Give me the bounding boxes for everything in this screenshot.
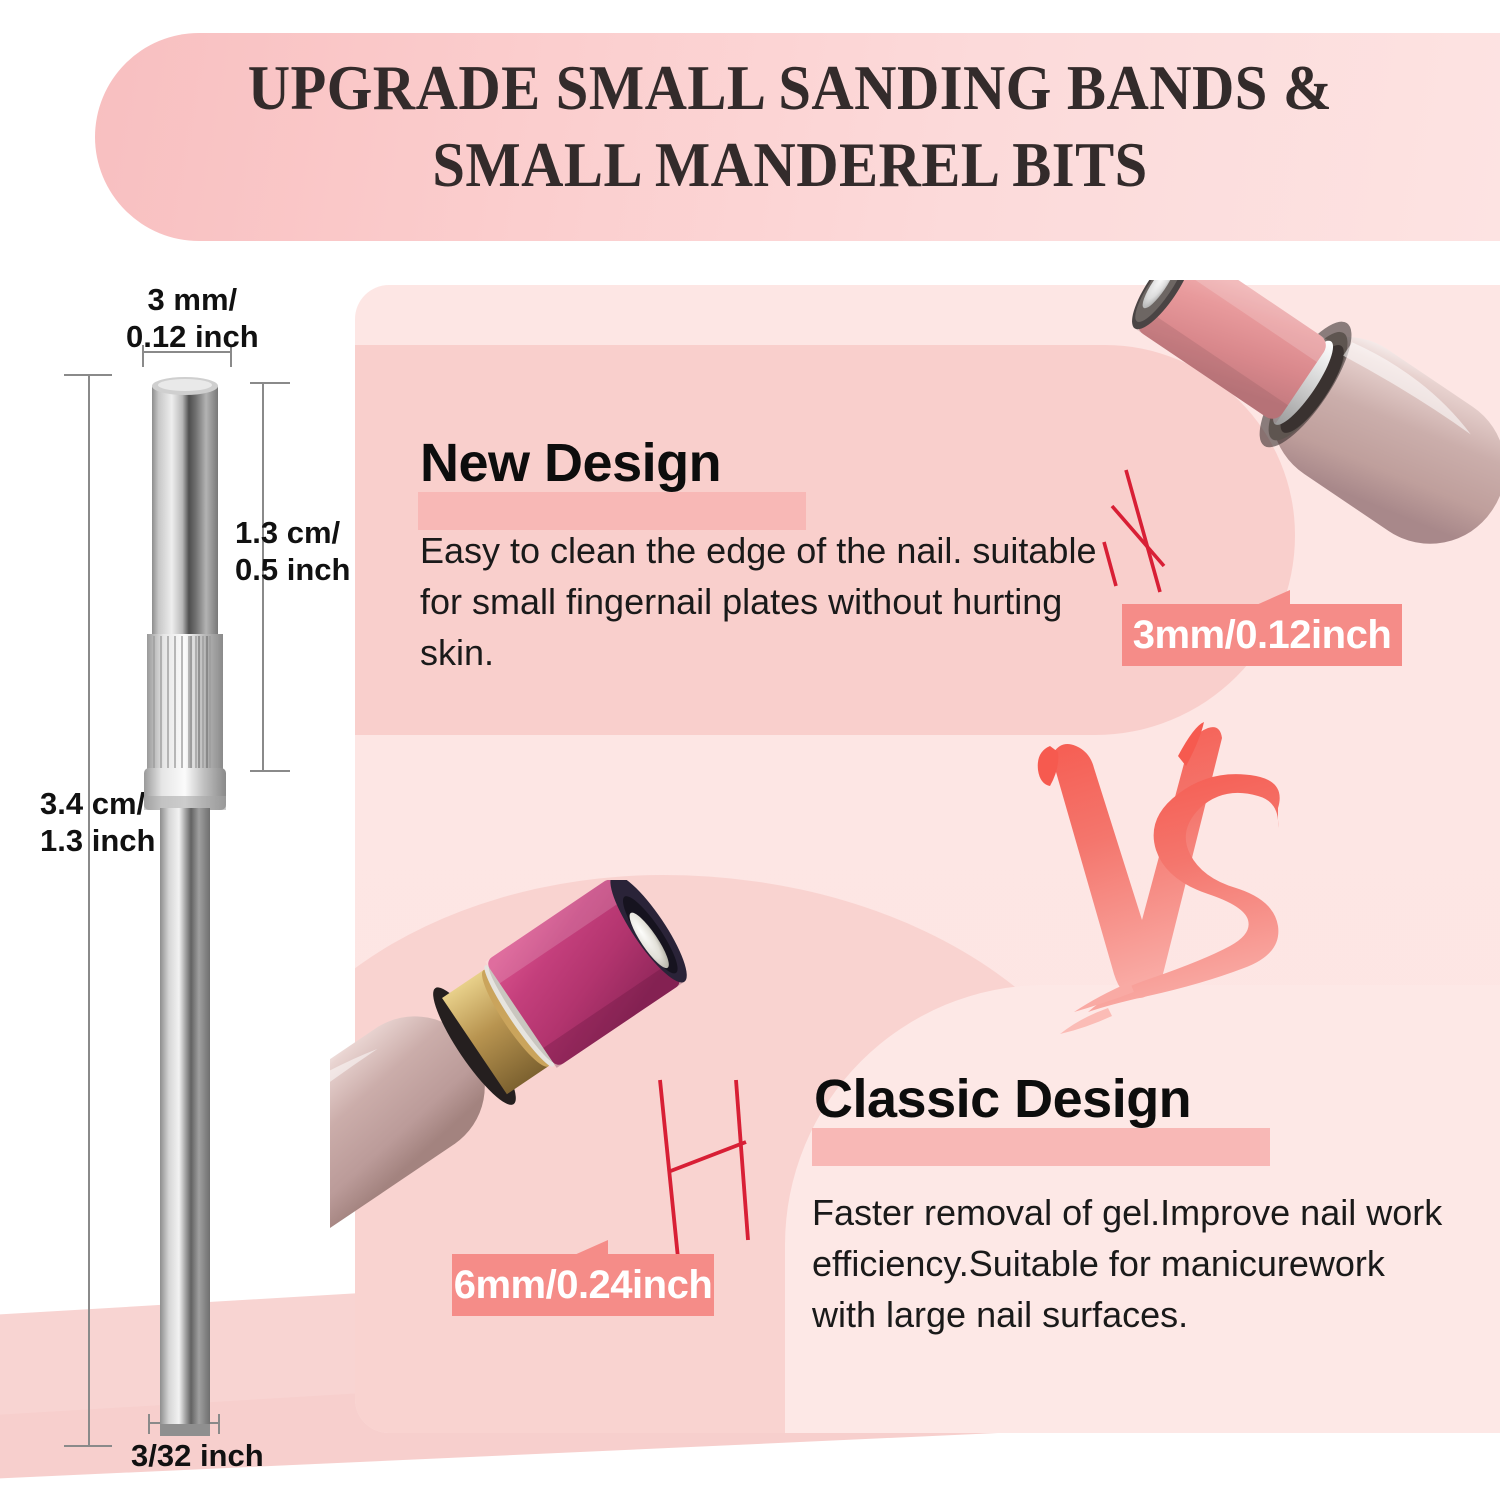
measurement-marks-3mm: [1104, 470, 1164, 592]
mandrel-bit-illustration: [130, 376, 240, 1436]
callout-badge-6mm: 6mm/0.24inch: [452, 1254, 714, 1316]
dimension-cap-length-top: [64, 374, 112, 376]
measurement-marks-6mm: [660, 1080, 748, 1258]
classic-design-product-photo: [330, 880, 830, 1300]
new-design-body-text: Easy to clean the edge of the nail. suit…: [420, 525, 1100, 678]
dimension-rule-total-length: [88, 374, 90, 1447]
classic-design-heading-highlight: [812, 1128, 1270, 1166]
dimension-head-height-line1: 1.3 cm/: [235, 515, 340, 550]
dimension-cap-length-bottom: [64, 1445, 112, 1447]
dimension-top-width-line2: 0.12 inch: [126, 319, 259, 354]
classic-design-body-text: Faster removal of gel.Improve nail work …: [812, 1187, 1452, 1340]
dimension-label-shank-diameter: 3/32 inch: [131, 1438, 264, 1475]
dimension-cap-head-top: [250, 382, 290, 384]
dimension-label-top-width: 3 mm/ 0.12 inch: [126, 282, 259, 355]
dimension-head-height-line2: 0.5 inch: [235, 552, 350, 587]
dimension-cap-head-bottom: [250, 770, 290, 772]
classic-design-heading: Classic Design: [814, 1068, 1191, 1130]
dimension-label-head-height: 1.3 cm/ 0.5 inch: [235, 515, 350, 588]
callout-badge-3mm: 3mm/0.12inch: [1122, 604, 1402, 666]
new-design-heading: New Design: [420, 432, 721, 494]
dimension-top-width-line1: 3 mm/: [148, 282, 238, 317]
vs-brush-icon: [1010, 716, 1310, 1076]
mandrel-dimension-diagram: 3 mm/ 0.12 inch 1.3 cm/ 0.5 inch 3.4 cm/…: [0, 0, 360, 1500]
